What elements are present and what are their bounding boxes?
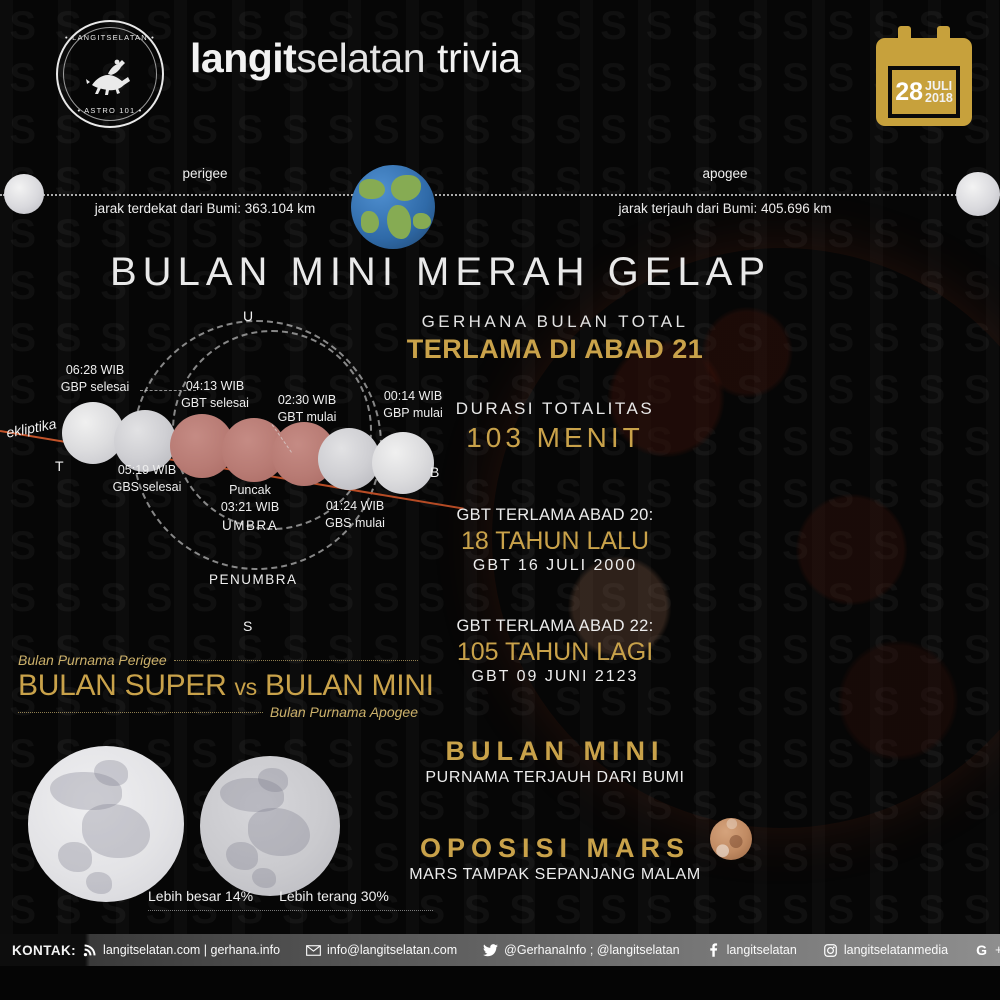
contact-googleplus-text: +LangitselatanMedia [995,943,1000,957]
abad22-date: GBT 09 JUNI 2123 [405,668,705,686]
facebook-icon [706,944,721,957]
super-vs-mini-heading: Bulan Purnama Perigee BULAN SUPER vs BUL… [18,652,418,720]
diagram-moon-gbs-mulai [318,428,380,490]
abad22-block: GBT TERLAMA ABAD 22: 105 TAHUN LAGI GBT … [405,617,705,686]
abad22-heading: GBT TERLAMA ABAD 22: [405,617,705,636]
brand-title: langitselatantrivia [190,35,521,82]
apogee-label: apogee [640,166,810,181]
contact-bar: KONTAK: langitselatan.com | gerhana.info… [0,934,1000,966]
abad20-value: 18 TAHUN LALU [405,527,705,556]
calendar-icon: 28 JULI 2018 [876,38,972,126]
mini-moon-circle [200,756,340,896]
abad20-block: GBT TERLAMA ABAD 20: 18 TAHUN LALU GBT 1… [405,506,705,575]
phase-label-gbs-selesai: 05:19 WIB GBS selesai [92,462,202,496]
peak-time: 03:21 WIB [198,499,302,516]
rss-icon [82,944,97,957]
calendar-day: 28 [895,80,923,105]
logo-bottom-text: • ASTRO 101 • [64,106,156,115]
eclipse-headline: TERLAMA DI ABAD 21 [405,334,705,365]
calendar-month-year: JULI 2018 [925,80,953,105]
oposisi-mars-title: OPOSISI MARS [405,833,705,864]
oposisi-mars-subtitle: MARS TAMPAK SEPANJANG MALAM [405,866,705,884]
caption-rule-2 [18,712,263,713]
phase-event: GBT mulai [252,409,362,426]
abad20-date: GBT 16 JULI 2000 [405,557,705,575]
leader-line-gbt-selesai [140,390,196,391]
duration-block: DURASI TOTALITAS 103 MENIT [405,399,705,454]
diagram-axis-south: S [243,618,252,634]
perigee-caption-row: Bulan Purnama Perigee [18,652,418,668]
contact-instagram[interactable]: langitselatanmedia [823,943,948,957]
horse-rider-emblem-icon [84,51,136,97]
phase-time: 06:28 WIB [40,362,150,379]
comparison-title-vs: vs [234,674,256,700]
oposisi-mars-block: OPOSISI MARS MARS TAMPAK SEPANJANG MALAM [405,833,705,884]
comparison-stats: Lebih besar 14% Lebih terang 30% [148,888,438,904]
comparison-title: BULAN SUPER vs BULAN MINI [18,669,418,703]
abad20-heading: GBT TERLAMA ABAD 20: [405,506,705,525]
phase-label-gbp-selesai: 06:28 WIB GBP selesai [40,362,150,396]
umbra-label: UMBRA [222,518,278,533]
contact-website[interactable]: langitselatan.com | gerhana.info [82,943,280,957]
caption-rule [174,660,418,661]
stat-size: Lebih besar 14% [148,888,253,904]
contact-twitter[interactable]: @GerhanaInfo ; @langitselatan [483,943,679,957]
apogee-caption-row: Bulan Purnama Apogee [18,704,418,720]
brand-bold: langit [190,35,296,81]
phase-time: 01:24 WIB [300,498,410,515]
perigee-label: perigee [120,166,290,181]
logo-top-text: • LANGITSELATAN • [64,33,156,42]
contact-instagram-text: langitselatanmedia [844,943,948,957]
phase-event: GBS selesai [92,479,202,496]
instagram-icon [823,944,838,957]
phase-label-gbs-mulai: 01:24 WIB GBS mulai [300,498,410,532]
apogee-distance: jarak terjauh dari Bumi: 405.696 km [610,201,840,216]
calendar-date-area: 28 JULI 2018 [892,70,956,114]
bulan-mini-subtitle: PURNAMA TERJAUH DARI BUMI [405,769,705,787]
calendar-screen: 28 JULI 2018 [888,66,960,118]
contact-email-text: info@langitselatan.com [327,943,457,957]
diagram-axis-north: U [243,308,253,324]
mars-planet-icon [710,818,752,860]
header: • LANGITSELATAN • • ASTRO 101 • langitse… [0,0,1000,150]
phase-event: GBP selesai [40,379,150,396]
phase-time: 05:19 WIB [92,462,202,479]
eclipse-kicker: GERHANA BULAN TOTAL [405,312,705,332]
contact-googleplus[interactable]: G +LangitselatanMedia [974,943,1000,957]
infographic-canvas: SSSSSSSSSSSSSSSSSSSSSSSSSSSSSSSSSSSSSSSS… [0,0,1000,1000]
footer-background [0,966,1000,1000]
peak-label: Puncak 03:21 WIB [198,482,302,516]
page-title: BULAN MINI MERAH GELAP [110,250,771,295]
abad22-value: 105 TAHUN LAGI [405,638,705,667]
contact-twitter-text: @GerhanaInfo ; @langitselatan [504,943,679,957]
comparison-title-right: BULAN MINI [265,669,434,702]
super-moon-circle [28,746,184,902]
bulan-mini-title: BULAN MINI [405,736,705,767]
right-info-column: GERHANA BULAN TOTAL TERLAMA DI ABAD 21 D… [405,312,705,884]
date-badge: 28 JULI 2018 [876,26,972,126]
phase-event: GBS mulai [300,515,410,532]
peak-title: Puncak [198,482,302,499]
googleplus-icon: G [974,944,989,957]
logo-badge: • LANGITSELATAN • • ASTRO 101 • [56,20,164,128]
brand-light: selatan [296,35,425,81]
phase-label-gbt-mulai: 02:30 WIB GBT mulai [252,392,362,426]
eclipse-diagram: U S T B UMBRA PENUMBRA 06:28 WIB GBP sel… [0,300,470,650]
earth-icon [351,165,435,249]
logo-inner-ring: • LANGITSELATAN • • ASTRO 101 • [63,27,157,121]
brand-trivia: trivia [437,35,521,81]
twitter-icon [483,944,498,957]
contact-facebook-text: langitselatan [727,943,797,957]
duration-caption: DURASI TOTALITAS [405,399,705,419]
contact-email[interactable]: info@langitselatan.com [306,943,457,957]
contact-label: KONTAK: [0,943,76,958]
apogee-caption: Bulan Purnama Apogee [270,704,418,720]
perigee-distance: jarak terdekat dari Bumi: 363.104 km [90,201,320,216]
calendar-year: 2018 [925,92,953,105]
envelope-icon [306,944,321,957]
duration-value: 103 MENIT [405,422,705,454]
comparison-underline [148,910,433,911]
apogee-moon-icon [956,172,1000,216]
bulan-mini-block: BULAN MINI PURNAMA TERJAUH DARI BUMI [405,736,705,787]
perigee-caption: Bulan Purnama Perigee [18,652,167,668]
orbit-dotted-line [0,194,1000,196]
comparison-title-left: BULAN SUPER [18,669,226,702]
penumbra-label: PENUMBRA [209,572,298,587]
contact-website-text: langitselatan.com | gerhana.info [103,943,280,957]
contact-items: langitselatan.com | gerhana.info info@la… [76,943,1000,957]
contact-facebook[interactable]: langitselatan [706,943,797,957]
perigee-moon-icon [4,174,44,214]
diagram-axis-east: T [55,458,64,474]
phase-time: 02:30 WIB [252,392,362,409]
stat-brightness: Lebih terang 30% [279,888,389,904]
